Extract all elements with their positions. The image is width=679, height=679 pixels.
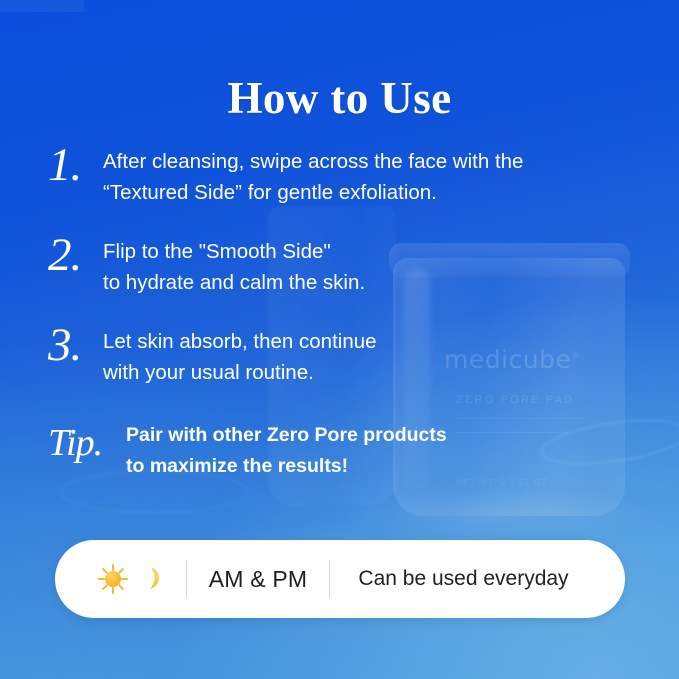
- step-text-3: Let skin absorb, then continue with your…: [103, 326, 638, 388]
- tip-label: Tip.: [48, 424, 122, 462]
- watermark-block: [0, 0, 84, 12]
- step-line: Flip to the "Smooth Side": [103, 236, 638, 267]
- step-item-3: 3. Let skin absorb, then continue with y…: [48, 326, 638, 398]
- tip-item: Tip. Pair with other Zero Pore products …: [48, 420, 638, 490]
- step-item-2: 2. Flip to the "Smooth Side" to hydrate …: [48, 236, 638, 308]
- step-number-3: 3.: [48, 322, 100, 369]
- steps-list: 1. After cleansing, swipe across the fac…: [48, 146, 638, 508]
- sun-icon: [99, 565, 127, 593]
- tip-text: Pair with other Zero Pore products to ma…: [126, 420, 638, 482]
- tip-line: Pair with other Zero Pore products: [126, 420, 638, 451]
- usage-frequency: Can be used everyday: [330, 567, 625, 591]
- step-number-2: 2.: [48, 232, 100, 279]
- usage-icons: [55, 565, 186, 593]
- tip-line: to maximize the results!: [126, 451, 638, 482]
- how-to-use-poster: medicube® ZERO PORE PAD NET WT. 2.7 FL O…: [0, 0, 679, 679]
- step-text-1: After cleansing, swipe across the face w…: [103, 146, 638, 208]
- page-title: How to Use: [0, 72, 679, 124]
- step-line: After cleansing, swipe across the face w…: [103, 146, 638, 177]
- moon-icon: [136, 566, 160, 592]
- step-line: “Textured Side” for gentle exfoliation.: [103, 177, 638, 208]
- usage-time-of-day: AM & PM: [187, 566, 329, 593]
- step-text-2: Flip to the "Smooth Side" to hydrate and…: [103, 236, 638, 298]
- step-line: Let skin absorb, then continue: [103, 326, 638, 357]
- step-number-1: 1.: [48, 142, 100, 189]
- usage-bar: AM & PM Can be used everyday: [55, 540, 625, 618]
- step-item-1: 1. After cleansing, swipe across the fac…: [48, 146, 638, 218]
- step-line: to hydrate and calm the skin.: [103, 267, 638, 298]
- step-line: with your usual routine.: [103, 357, 638, 388]
